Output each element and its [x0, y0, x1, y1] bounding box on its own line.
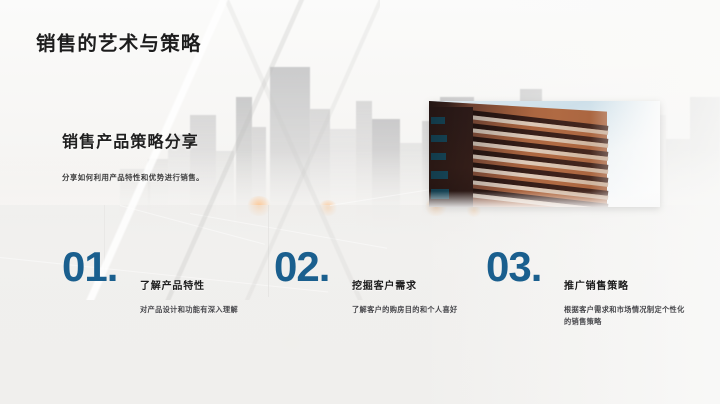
point-number-value: 02	[274, 243, 319, 290]
point-title: 了解产品特性	[140, 277, 205, 292]
point-number: 03.	[486, 246, 541, 288]
point-description: 了解客户的购房目的和个人喜好	[352, 304, 474, 316]
point-number: 02.	[274, 246, 329, 288]
point-description: 根据客户需求和市场情况制定个性化的销售策略	[564, 304, 686, 328]
point-number-value: 01	[62, 243, 107, 290]
point-number-dot: .	[531, 243, 542, 290]
key-points-row: 01. 了解产品特性 对产品设计和功能有深入理解 02. 挖掘客户需求 了解客户…	[0, 246, 720, 376]
point-number-dot: .	[107, 243, 118, 290]
point-description: 对产品设计和功能有深入理解	[140, 304, 262, 316]
key-point-03: 03. 推广销售策略 根据客户需求和市场情况制定个性化的销售策略	[486, 246, 701, 376]
point-number-dot: .	[319, 243, 330, 290]
point-number-value: 03	[486, 243, 531, 290]
point-title: 挖掘客户需求	[352, 277, 417, 292]
slide-subtitle: 销售产品策略分享	[62, 128, 199, 152]
presentation-slide: 销售的艺术与策略 销售产品策略分享 分享如何利用产品特性和优势进行销售。	[0, 0, 720, 404]
key-point-02: 02. 挖掘客户需求 了解客户的购房目的和个人喜好	[274, 246, 489, 376]
building-photo	[429, 101, 660, 207]
page-title: 销售的艺术与策略	[36, 27, 202, 56]
photo-bottom-fade	[429, 191, 660, 207]
point-number: 01.	[62, 246, 117, 288]
key-point-01: 01. 了解产品特性 对产品设计和功能有深入理解	[62, 246, 277, 376]
slide-description: 分享如何利用产品特性和优势进行销售。	[62, 172, 204, 183]
point-title: 推广销售策略	[564, 277, 629, 292]
